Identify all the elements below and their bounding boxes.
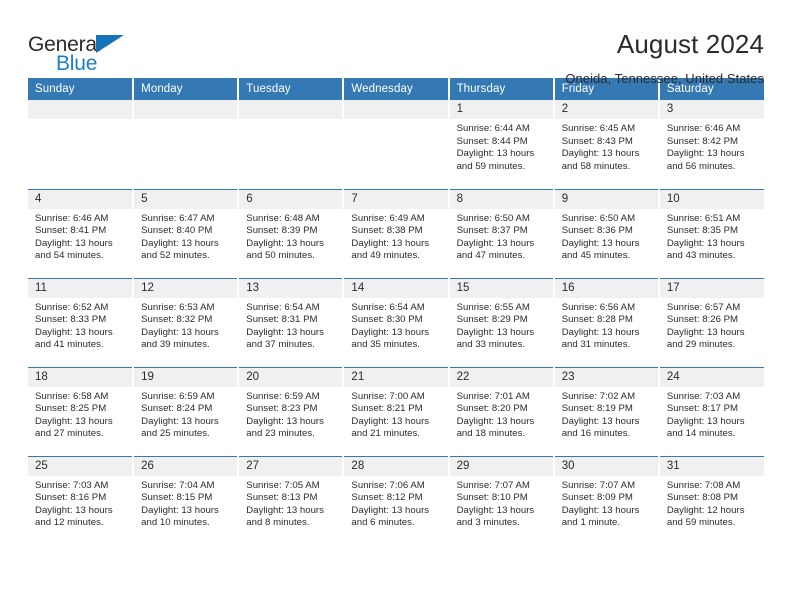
daylight-text-line1: Daylight: 13 hours: [457, 416, 547, 429]
daylight-text-line2: and 56 minutes.: [667, 161, 758, 174]
daylight-text-line1: Daylight: 13 hours: [562, 416, 652, 429]
calendar-cell-day[interactable]: 1Sunrise: 6:44 AMSunset: 8:44 PMDaylight…: [449, 100, 554, 189]
sunrise-text: Sunrise: 6:48 AM: [246, 213, 336, 226]
sunset-text: Sunset: 8:35 PM: [667, 225, 758, 238]
daylight-text-line2: and 45 minutes.: [562, 250, 652, 263]
sunset-text: Sunset: 8:12 PM: [351, 492, 441, 505]
sunset-text: Sunset: 8:29 PM: [457, 314, 547, 327]
calendar-cell-day[interactable]: 28Sunrise: 7:06 AMSunset: 8:12 PMDayligh…: [343, 456, 448, 545]
day-details: Sunrise: 6:44 AMSunset: 8:44 PMDaylight:…: [450, 119, 553, 173]
calendar-cell-day[interactable]: 12Sunrise: 6:53 AMSunset: 8:32 PMDayligh…: [133, 278, 238, 367]
sunset-text: Sunset: 8:39 PM: [246, 225, 336, 238]
sunrise-text: Sunrise: 7:06 AM: [351, 480, 441, 493]
daylight-text-line1: Daylight: 12 hours: [667, 505, 758, 518]
daylight-text-line2: and 18 minutes.: [457, 428, 547, 441]
sunset-text: Sunset: 8:38 PM: [351, 225, 441, 238]
sunrise-text: Sunrise: 6:59 AM: [246, 391, 336, 404]
calendar-cell-day[interactable]: 20Sunrise: 6:59 AMSunset: 8:23 PMDayligh…: [238, 367, 343, 456]
location-subtitle: Oneida, Tennessee, United States: [565, 69, 764, 89]
daylight-text-line1: Daylight: 13 hours: [246, 327, 336, 340]
calendar-cell-day[interactable]: 22Sunrise: 7:01 AMSunset: 8:20 PMDayligh…: [449, 367, 554, 456]
daylight-text-line1: Daylight: 13 hours: [457, 148, 547, 161]
day-details: Sunrise: 6:55 AMSunset: 8:29 PMDaylight:…: [450, 298, 553, 352]
daylight-text-line1: Daylight: 13 hours: [35, 505, 126, 518]
calendar-cell-day[interactable]: 18Sunrise: 6:58 AMSunset: 8:25 PMDayligh…: [28, 367, 133, 456]
page-header: General Blue August 2024 Oneida, Tenness…: [28, 0, 764, 78]
daylight-text-line1: Daylight: 13 hours: [35, 238, 126, 251]
sunset-text: Sunset: 8:13 PM: [246, 492, 336, 505]
day-details: Sunrise: 7:07 AMSunset: 8:09 PMDaylight:…: [555, 476, 658, 530]
calendar-cell-empty: [238, 100, 343, 189]
daylight-text-line1: Daylight: 13 hours: [667, 327, 758, 340]
day-number: 22: [450, 368, 553, 387]
day-number: 31: [660, 457, 764, 476]
day-details: Sunrise: 6:58 AMSunset: 8:25 PMDaylight:…: [28, 387, 132, 441]
sunset-text: Sunset: 8:33 PM: [35, 314, 126, 327]
daylight-text-line1: Daylight: 13 hours: [141, 505, 231, 518]
day-details: Sunrise: 6:52 AMSunset: 8:33 PMDaylight:…: [28, 298, 132, 352]
day-number: 6: [239, 190, 342, 209]
calendar-cell-day[interactable]: 25Sunrise: 7:03 AMSunset: 8:16 PMDayligh…: [28, 456, 133, 545]
sunrise-text: Sunrise: 6:49 AM: [351, 213, 441, 226]
day-details: Sunrise: 6:47 AMSunset: 8:40 PMDaylight:…: [134, 209, 237, 263]
daylight-text-line2: and 37 minutes.: [246, 339, 336, 352]
sunrise-text: Sunrise: 6:54 AM: [351, 302, 441, 315]
daylight-text-line2: and 6 minutes.: [351, 517, 441, 530]
day-details: Sunrise: 6:56 AMSunset: 8:28 PMDaylight:…: [555, 298, 658, 352]
day-number: 1: [450, 100, 553, 119]
day-details: Sunrise: 6:54 AMSunset: 8:30 PMDaylight:…: [344, 298, 447, 352]
day-number: [344, 100, 447, 119]
brand-logo[interactable]: General Blue: [28, 26, 148, 76]
daylight-text-line2: and 59 minutes.: [457, 161, 547, 174]
day-details: Sunrise: 6:46 AMSunset: 8:41 PMDaylight:…: [28, 209, 132, 263]
calendar-cell-day[interactable]: 8Sunrise: 6:50 AMSunset: 8:37 PMDaylight…: [449, 189, 554, 278]
daylight-text-line1: Daylight: 13 hours: [141, 238, 231, 251]
sunrise-text: Sunrise: 6:47 AM: [141, 213, 231, 226]
sunset-text: Sunset: 8:16 PM: [35, 492, 126, 505]
daylight-text-line1: Daylight: 13 hours: [457, 238, 547, 251]
daylight-text-line1: Daylight: 13 hours: [667, 148, 758, 161]
daylight-text-line2: and 21 minutes.: [351, 428, 441, 441]
daylight-text-line1: Daylight: 13 hours: [141, 416, 231, 429]
daylight-text-line1: Daylight: 13 hours: [35, 416, 126, 429]
daylight-text-line1: Daylight: 13 hours: [562, 327, 652, 340]
day-number: 27: [239, 457, 342, 476]
daylight-text-line1: Daylight: 13 hours: [562, 238, 652, 251]
calendar-page: General Blue August 2024 Oneida, Tenness…: [0, 0, 792, 612]
day-details: Sunrise: 6:45 AMSunset: 8:43 PMDaylight:…: [555, 119, 658, 173]
day-number: 28: [344, 457, 447, 476]
day-details: Sunrise: 7:04 AMSunset: 8:15 PMDaylight:…: [134, 476, 237, 530]
daylight-text-line2: and 39 minutes.: [141, 339, 231, 352]
sunset-text: Sunset: 8:37 PM: [457, 225, 547, 238]
daylight-text-line1: Daylight: 13 hours: [457, 505, 547, 518]
weekday-thursday: Thursday: [449, 78, 554, 100]
sunset-text: Sunset: 8:42 PM: [667, 136, 758, 149]
sunrise-text: Sunrise: 7:04 AM: [141, 480, 231, 493]
day-number: 15: [450, 279, 553, 298]
calendar-week-row: 11Sunrise: 6:52 AMSunset: 8:33 PMDayligh…: [28, 278, 764, 367]
calendar-cell-day[interactable]: 16Sunrise: 6:56 AMSunset: 8:28 PMDayligh…: [554, 278, 659, 367]
daylight-text-line1: Daylight: 13 hours: [35, 327, 126, 340]
daylight-text-line2: and 41 minutes.: [35, 339, 126, 352]
day-details: Sunrise: 6:51 AMSunset: 8:35 PMDaylight:…: [660, 209, 764, 263]
sunrise-text: Sunrise: 6:46 AM: [667, 123, 758, 136]
calendar-cell-day[interactable]: 24Sunrise: 7:03 AMSunset: 8:17 PMDayligh…: [659, 367, 764, 456]
sunrise-text: Sunrise: 7:02 AM: [562, 391, 652, 404]
day-number: 11: [28, 279, 132, 298]
sunrise-text: Sunrise: 6:44 AM: [457, 123, 547, 136]
sunrise-text: Sunrise: 6:52 AM: [35, 302, 126, 315]
weekday-monday: Monday: [133, 78, 238, 100]
calendar-cell-day[interactable]: 15Sunrise: 6:55 AMSunset: 8:29 PMDayligh…: [449, 278, 554, 367]
sunrise-text: Sunrise: 7:03 AM: [35, 480, 126, 493]
daylight-text-line2: and 59 minutes.: [667, 517, 758, 530]
daylight-text-line2: and 49 minutes.: [351, 250, 441, 263]
daylight-text-line1: Daylight: 13 hours: [246, 238, 336, 251]
sunrise-text: Sunrise: 7:00 AM: [351, 391, 441, 404]
sunset-text: Sunset: 8:17 PM: [667, 403, 758, 416]
daylight-text-line1: Daylight: 13 hours: [351, 505, 441, 518]
sunset-text: Sunset: 8:36 PM: [562, 225, 652, 238]
day-details: Sunrise: 6:57 AMSunset: 8:26 PMDaylight:…: [660, 298, 764, 352]
day-details: Sunrise: 6:54 AMSunset: 8:31 PMDaylight:…: [239, 298, 342, 352]
sunset-text: Sunset: 8:44 PM: [457, 136, 547, 149]
sunrise-text: Sunrise: 6:58 AM: [35, 391, 126, 404]
triangle-flag-icon: [96, 35, 124, 53]
day-details: Sunrise: 6:59 AMSunset: 8:24 PMDaylight:…: [134, 387, 237, 441]
calendar-cell-empty: [133, 100, 238, 189]
day-details: Sunrise: 7:01 AMSunset: 8:20 PMDaylight:…: [450, 387, 553, 441]
day-number: 3: [660, 100, 764, 119]
sunrise-text: Sunrise: 7:07 AM: [562, 480, 652, 493]
daylight-text-line1: Daylight: 13 hours: [667, 238, 758, 251]
daylight-text-line2: and 3 minutes.: [457, 517, 547, 530]
sunrise-text: Sunrise: 6:54 AM: [246, 302, 336, 315]
calendar-cell-day[interactable]: 30Sunrise: 7:07 AMSunset: 8:09 PMDayligh…: [554, 456, 659, 545]
day-number: 16: [555, 279, 658, 298]
calendar-cell-day[interactable]: 5Sunrise: 6:47 AMSunset: 8:40 PMDaylight…: [133, 189, 238, 278]
calendar-cell-day[interactable]: 31Sunrise: 7:08 AMSunset: 8:08 PMDayligh…: [659, 456, 764, 545]
daylight-text-line2: and 43 minutes.: [667, 250, 758, 263]
day-number: 2: [555, 100, 658, 119]
calendar-cell-day[interactable]: 26Sunrise: 7:04 AMSunset: 8:15 PMDayligh…: [133, 456, 238, 545]
day-details: Sunrise: 7:08 AMSunset: 8:08 PMDaylight:…: [660, 476, 764, 530]
daylight-text-line2: and 29 minutes.: [667, 339, 758, 352]
sunset-text: Sunset: 8:10 PM: [457, 492, 547, 505]
day-details: Sunrise: 6:49 AMSunset: 8:38 PMDaylight:…: [344, 209, 447, 263]
daylight-text-line1: Daylight: 13 hours: [457, 327, 547, 340]
title-block: August 2024 Oneida, Tennessee, United St…: [565, 26, 764, 89]
calendar-cell-day[interactable]: 6Sunrise: 6:48 AMSunset: 8:39 PMDaylight…: [238, 189, 343, 278]
day-details: Sunrise: 7:05 AMSunset: 8:13 PMDaylight:…: [239, 476, 342, 530]
calendar-cell-day[interactable]: 17Sunrise: 6:57 AMSunset: 8:26 PMDayligh…: [659, 278, 764, 367]
daylight-text-line2: and 50 minutes.: [246, 250, 336, 263]
day-details: Sunrise: 7:02 AMSunset: 8:19 PMDaylight:…: [555, 387, 658, 441]
page-title: August 2024: [565, 28, 764, 60]
daylight-text-line2: and 58 minutes.: [562, 161, 652, 174]
sunrise-text: Sunrise: 6:45 AM: [562, 123, 652, 136]
sunset-text: Sunset: 8:40 PM: [141, 225, 231, 238]
calendar-week-row: 18Sunrise: 6:58 AMSunset: 8:25 PMDayligh…: [28, 367, 764, 456]
daylight-text-line1: Daylight: 13 hours: [351, 327, 441, 340]
calendar-cell-day[interactable]: 4Sunrise: 6:46 AMSunset: 8:41 PMDaylight…: [28, 189, 133, 278]
daylight-text-line2: and 16 minutes.: [562, 428, 652, 441]
sunrise-text: Sunrise: 6:46 AM: [35, 213, 126, 226]
sunrise-text: Sunrise: 7:07 AM: [457, 480, 547, 493]
weekday-wednesday: Wednesday: [343, 78, 448, 100]
calendar-cell-day[interactable]: 21Sunrise: 7:00 AMSunset: 8:21 PMDayligh…: [343, 367, 448, 456]
calendar-cell-day[interactable]: 13Sunrise: 6:54 AMSunset: 8:31 PMDayligh…: [238, 278, 343, 367]
day-number: 9: [555, 190, 658, 209]
day-details: Sunrise: 7:07 AMSunset: 8:10 PMDaylight:…: [450, 476, 553, 530]
daylight-text-line2: and 10 minutes.: [141, 517, 231, 530]
calendar-week-row: 1Sunrise: 6:44 AMSunset: 8:44 PMDaylight…: [28, 100, 764, 189]
day-details: Sunrise: 7:03 AMSunset: 8:17 PMDaylight:…: [660, 387, 764, 441]
brand-name-blue: Blue: [56, 53, 97, 74]
daylight-text-line2: and 1 minute.: [562, 517, 652, 530]
daylight-text-line1: Daylight: 13 hours: [562, 148, 652, 161]
sunset-text: Sunset: 8:21 PM: [351, 403, 441, 416]
daylight-text-line1: Daylight: 13 hours: [562, 505, 652, 518]
calendar-cell-day[interactable]: 29Sunrise: 7:07 AMSunset: 8:10 PMDayligh…: [449, 456, 554, 545]
day-number: 19: [134, 368, 237, 387]
daylight-text-line2: and 35 minutes.: [351, 339, 441, 352]
sunset-text: Sunset: 8:20 PM: [457, 403, 547, 416]
daylight-text-line2: and 23 minutes.: [246, 428, 336, 441]
sunset-text: Sunset: 8:32 PM: [141, 314, 231, 327]
day-details: Sunrise: 6:50 AMSunset: 8:36 PMDaylight:…: [555, 209, 658, 263]
sunset-text: Sunset: 8:30 PM: [351, 314, 441, 327]
sunrise-text: Sunrise: 7:03 AM: [667, 391, 758, 404]
day-details: Sunrise: 6:53 AMSunset: 8:32 PMDaylight:…: [134, 298, 237, 352]
day-number: 23: [555, 368, 658, 387]
day-details: Sunrise: 7:03 AMSunset: 8:16 PMDaylight:…: [28, 476, 132, 530]
day-number: 10: [660, 190, 764, 209]
day-number: 26: [134, 457, 237, 476]
day-details: Sunrise: 6:48 AMSunset: 8:39 PMDaylight:…: [239, 209, 342, 263]
calendar-grid: Sunday Monday Tuesday Wednesday Thursday…: [28, 78, 764, 545]
daylight-text-line1: Daylight: 13 hours: [246, 505, 336, 518]
day-details: Sunrise: 6:59 AMSunset: 8:23 PMDaylight:…: [239, 387, 342, 441]
calendar-cell-day[interactable]: 3Sunrise: 6:46 AMSunset: 8:42 PMDaylight…: [659, 100, 764, 189]
sunset-text: Sunset: 8:41 PM: [35, 225, 126, 238]
calendar-cell-empty: [343, 100, 448, 189]
day-number: 18: [28, 368, 132, 387]
day-details: Sunrise: 6:50 AMSunset: 8:37 PMDaylight:…: [450, 209, 553, 263]
sunrise-text: Sunrise: 6:51 AM: [667, 213, 758, 226]
calendar-cell-day[interactable]: 11Sunrise: 6:52 AMSunset: 8:33 PMDayligh…: [28, 278, 133, 367]
calendar-cell-day[interactable]: 19Sunrise: 6:59 AMSunset: 8:24 PMDayligh…: [133, 367, 238, 456]
day-number: [239, 100, 342, 119]
day-details: Sunrise: 7:00 AMSunset: 8:21 PMDaylight:…: [344, 387, 447, 441]
daylight-text-line2: and 12 minutes.: [35, 517, 126, 530]
sunset-text: Sunset: 8:28 PM: [562, 314, 652, 327]
day-number: 13: [239, 279, 342, 298]
day-number: 29: [450, 457, 553, 476]
daylight-text-line1: Daylight: 13 hours: [351, 238, 441, 251]
daylight-text-line1: Daylight: 13 hours: [141, 327, 231, 340]
sunrise-text: Sunrise: 7:08 AM: [667, 480, 758, 493]
sunset-text: Sunset: 8:25 PM: [35, 403, 126, 416]
daylight-text-line2: and 54 minutes.: [35, 250, 126, 263]
daylight-text-line1: Daylight: 13 hours: [667, 416, 758, 429]
day-number: 20: [239, 368, 342, 387]
daylight-text-line2: and 47 minutes.: [457, 250, 547, 263]
day-number: 12: [134, 279, 237, 298]
weekday-sunday: Sunday: [28, 78, 133, 100]
sunset-text: Sunset: 8:24 PM: [141, 403, 231, 416]
daylight-text-line2: and 33 minutes.: [457, 339, 547, 352]
weekday-tuesday: Tuesday: [238, 78, 343, 100]
daylight-text-line2: and 25 minutes.: [141, 428, 231, 441]
calendar-cell-day[interactable]: 27Sunrise: 7:05 AMSunset: 8:13 PMDayligh…: [238, 456, 343, 545]
day-number: [28, 100, 132, 119]
day-number: 8: [450, 190, 553, 209]
sunrise-text: Sunrise: 6:55 AM: [457, 302, 547, 315]
calendar-cell-day[interactable]: 23Sunrise: 7:02 AMSunset: 8:19 PMDayligh…: [554, 367, 659, 456]
sunrise-text: Sunrise: 7:05 AM: [246, 480, 336, 493]
day-number: 4: [28, 190, 132, 209]
sunset-text: Sunset: 8:43 PM: [562, 136, 652, 149]
day-number: 14: [344, 279, 447, 298]
sunset-text: Sunset: 8:08 PM: [667, 492, 758, 505]
sunset-text: Sunset: 8:23 PM: [246, 403, 336, 416]
sunrise-text: Sunrise: 6:57 AM: [667, 302, 758, 315]
sunrise-text: Sunrise: 6:50 AM: [562, 213, 652, 226]
daylight-text-line1: Daylight: 13 hours: [351, 416, 441, 429]
calendar-cell-day[interactable]: 14Sunrise: 6:54 AMSunset: 8:30 PMDayligh…: [343, 278, 448, 367]
sunset-text: Sunset: 8:31 PM: [246, 314, 336, 327]
daylight-text-line2: and 31 minutes.: [562, 339, 652, 352]
daylight-text-line2: and 8 minutes.: [246, 517, 336, 530]
day-details: Sunrise: 6:46 AMSunset: 8:42 PMDaylight:…: [660, 119, 764, 173]
sunset-text: Sunset: 8:19 PM: [562, 403, 652, 416]
daylight-text-line2: and 14 minutes.: [667, 428, 758, 441]
sunrise-text: Sunrise: 6:56 AM: [562, 302, 652, 315]
sunset-text: Sunset: 8:15 PM: [141, 492, 231, 505]
sunrise-text: Sunrise: 7:01 AM: [457, 391, 547, 404]
day-number: 7: [344, 190, 447, 209]
daylight-text-line2: and 52 minutes.: [141, 250, 231, 263]
sunset-text: Sunset: 8:09 PM: [562, 492, 652, 505]
calendar-cell-day[interactable]: 10Sunrise: 6:51 AMSunset: 8:35 PMDayligh…: [659, 189, 764, 278]
sunrise-text: Sunrise: 6:53 AM: [141, 302, 231, 315]
calendar-cell-day[interactable]: 7Sunrise: 6:49 AMSunset: 8:38 PMDaylight…: [343, 189, 448, 278]
day-number: 24: [660, 368, 764, 387]
sunset-text: Sunset: 8:26 PM: [667, 314, 758, 327]
calendar-cell-empty: [28, 100, 133, 189]
sunrise-text: Sunrise: 6:59 AM: [141, 391, 231, 404]
calendar-week-row: 25Sunrise: 7:03 AMSunset: 8:16 PMDayligh…: [28, 456, 764, 545]
day-number: 5: [134, 190, 237, 209]
day-number: 17: [660, 279, 764, 298]
day-number: [134, 100, 237, 119]
day-number: 21: [344, 368, 447, 387]
day-details: Sunrise: 7:06 AMSunset: 8:12 PMDaylight:…: [344, 476, 447, 530]
daylight-text-line2: and 27 minutes.: [35, 428, 126, 441]
calendar-cell-day[interactable]: 2Sunrise: 6:45 AMSunset: 8:43 PMDaylight…: [554, 100, 659, 189]
sunrise-text: Sunrise: 6:50 AM: [457, 213, 547, 226]
daylight-text-line1: Daylight: 13 hours: [246, 416, 336, 429]
calendar-week-row: 4Sunrise: 6:46 AMSunset: 8:41 PMDaylight…: [28, 189, 764, 278]
calendar-cell-day[interactable]: 9Sunrise: 6:50 AMSunset: 8:36 PMDaylight…: [554, 189, 659, 278]
calendar-body: 1Sunrise: 6:44 AMSunset: 8:44 PMDaylight…: [28, 100, 764, 545]
day-number: 25: [28, 457, 132, 476]
day-number: 30: [555, 457, 658, 476]
